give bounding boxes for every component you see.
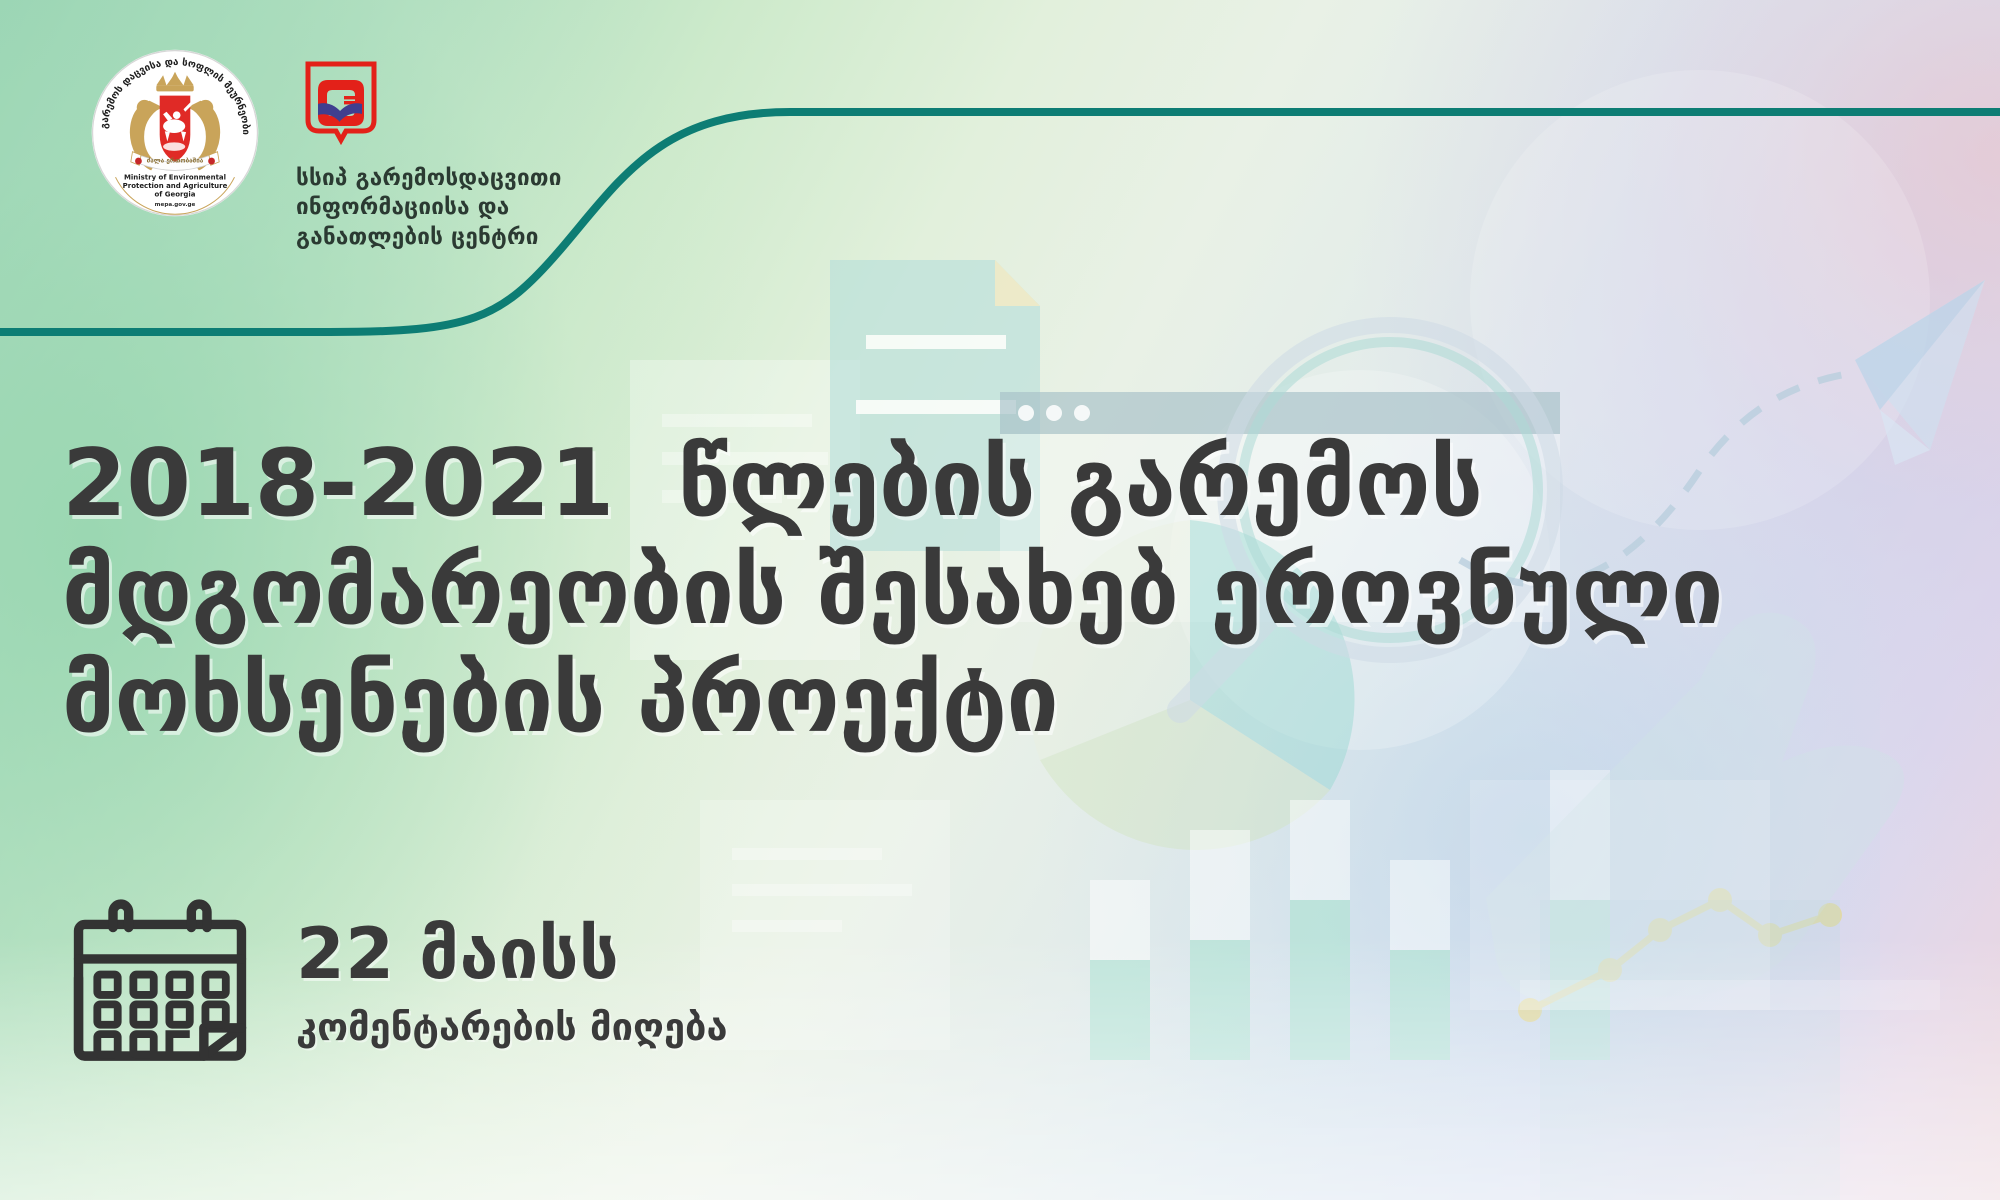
svg-text:Protection and Agriculture: Protection and Agriculture [123,182,228,190]
banner-root: საქართველოს გარემოს დაცვისა და სოფლის მე… [0,0,2000,1200]
ministry-emblem-icon: საქართველოს გარემოს დაცვისა და სოფლის მე… [90,48,260,218]
deadline-block: 22 მაისს კომენტარების მიღება [66,890,728,1078]
deadline-caption: კომენტარების მიღება [296,1007,728,1049]
svg-text:mepa.gov.ge: mepa.gov.ge [155,202,196,208]
center-logo-block: სსიპ გარემოსდაცვითი ინფორმაციისა და განა… [296,60,562,252]
calendar-icon [66,890,254,1078]
headline-line-2: მდგომარეობის შესახებ ეროვნული [62,538,1882,646]
page-title: 2018-2021 წლების გარემოს მდგომარეობის შე… [62,430,1882,754]
headline-line-3: მოხსენების პროექტი [62,646,1882,754]
svg-text:Ministry of Environmental: Ministry of Environmental [124,174,226,182]
svg-text:of Georgia: of Georgia [155,191,196,199]
deadline-date: 22 მაისს [296,919,728,989]
svg-text:ძალა ერთობაშია: ძალა ერთობაშია [147,157,204,165]
center-logo-name: სსიპ გარემოსდაცვითი ინფორმაციისა და განა… [296,164,562,252]
headline-line-1: 2018-2021 წლების გარემოს [62,430,1882,538]
education-center-shield-icon [304,60,378,148]
deadline-text: 22 მაისს კომენტარების მიღება [296,919,728,1049]
logo-row: საქართველოს გარემოს დაცვისა და სოფლის მე… [90,48,562,252]
